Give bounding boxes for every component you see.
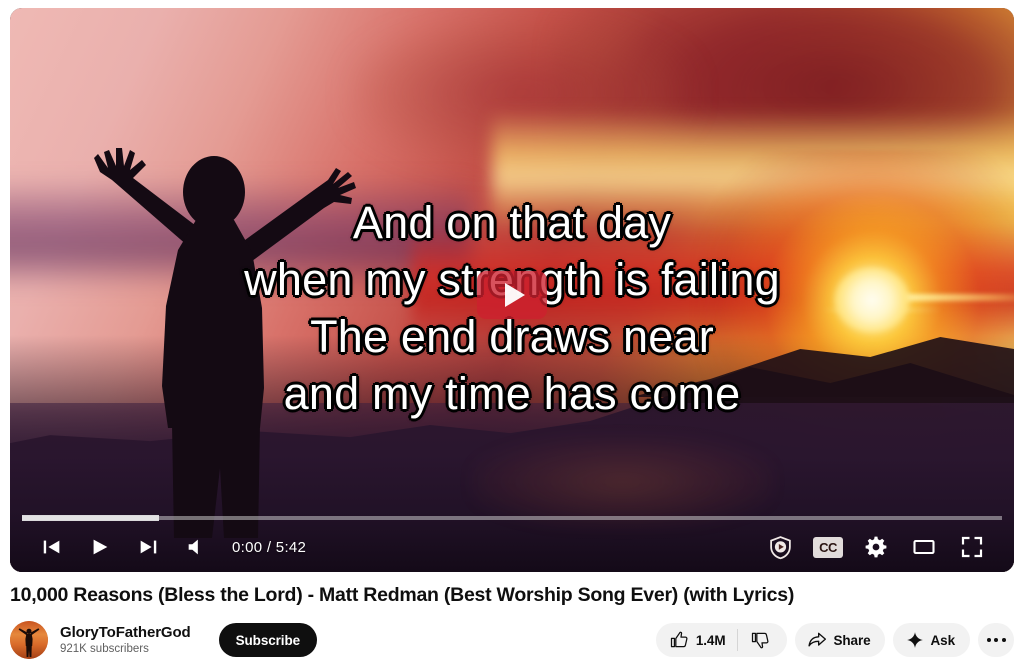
progress-loaded: [22, 515, 159, 521]
more-horizontal-icon: [987, 638, 1006, 642]
play-triangle-icon: [505, 283, 525, 307]
like-dislike-group: 1.4M: [656, 623, 787, 657]
avatar[interactable]: [10, 621, 48, 659]
previous-video-button[interactable]: [28, 525, 76, 569]
volume-button[interactable]: [172, 525, 220, 569]
next-video-button[interactable]: [124, 525, 172, 569]
player-controls-right: CC: [756, 525, 996, 569]
fullscreen-icon: [960, 535, 984, 559]
channel-info: GloryToFatherGod 921K subscribers: [60, 624, 191, 656]
settings-button[interactable]: [852, 525, 900, 569]
shield-play-icon: [768, 535, 793, 560]
video-player[interactable]: And on that day when my strength is fail…: [10, 8, 1014, 572]
youtube-play-overlay-icon[interactable]: [477, 271, 547, 319]
dislike-button[interactable]: [738, 630, 783, 650]
volume-icon: [185, 536, 207, 558]
like-count: 1.4M: [696, 633, 726, 648]
fullscreen-button[interactable]: [948, 525, 996, 569]
rectangle-icon: [911, 534, 937, 560]
more-actions-button[interactable]: [978, 623, 1014, 657]
play-icon: [89, 536, 111, 558]
channel-name[interactable]: GloryToFatherGod: [60, 624, 191, 641]
play-button[interactable]: [76, 525, 124, 569]
like-button[interactable]: 1.4M: [669, 630, 737, 650]
captions-button[interactable]: CC: [804, 525, 852, 569]
ask-label: Ask: [931, 633, 955, 648]
channel-subscriber-count: 921K subscribers: [60, 643, 191, 656]
water-reflection: [472, 437, 773, 527]
video-action-buttons: 1.4M Share Ask: [656, 623, 1014, 657]
ask-button[interactable]: Ask: [893, 623, 970, 657]
share-label: Share: [834, 633, 871, 648]
sparkle-icon: [906, 631, 924, 649]
progress-track[interactable]: [22, 516, 1002, 520]
progress-bar[interactable]: [22, 515, 1002, 520]
cc-icon: CC: [813, 537, 843, 558]
thumbs-up-icon: [669, 630, 689, 650]
player-controls-left: 0:00 / 5:42: [28, 525, 310, 569]
share-button[interactable]: Share: [795, 623, 885, 657]
youtube-watch-page: And on that day when my strength is fail…: [0, 0, 1024, 662]
video-meta-row: GloryToFatherGod 921K subscribers Subscr…: [10, 618, 1014, 662]
autoplay-shield-button[interactable]: [756, 525, 804, 569]
theater-mode-button[interactable]: [900, 525, 948, 569]
skip-next-icon: [137, 536, 159, 558]
thumbs-down-icon: [750, 630, 770, 650]
time-display: 0:00 / 5:42: [232, 539, 306, 556]
share-arrow-icon: [807, 630, 827, 650]
subscribe-button[interactable]: Subscribe: [219, 623, 317, 657]
skip-previous-icon: [41, 536, 63, 558]
player-controls-bar: 0:00 / 5:42 CC: [10, 522, 1014, 572]
channel-avatar: [10, 621, 48, 659]
gear-icon: [864, 535, 888, 559]
man-silhouette: [38, 128, 378, 538]
page-title: 10,000 Reasons (Bless the Lord) - Matt R…: [10, 584, 794, 607]
